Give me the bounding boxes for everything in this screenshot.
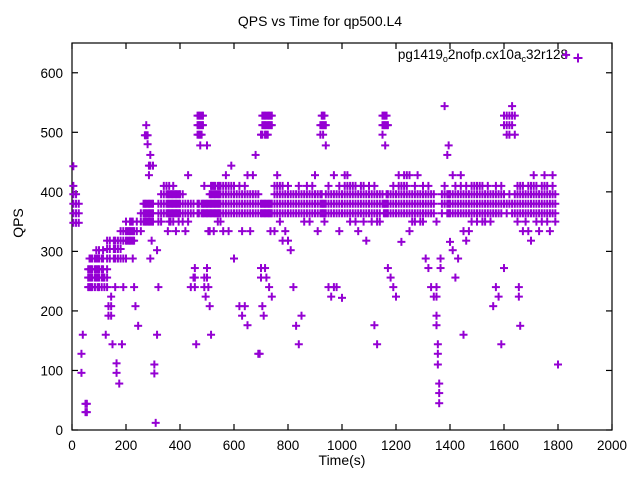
y-tick-label: 300 [40,244,63,259]
x-tick-label: 400 [169,438,192,453]
y-tick-label: 200 [40,304,63,319]
legend-marker [574,54,583,63]
y-tick-label: 0 [55,423,63,438]
x-tick-label: 600 [223,438,246,453]
series-pg1419_o2nofp.cx10a_c32r128 [69,51,570,427]
x-tick-label: 0 [68,438,76,453]
y-tick-label: 400 [40,185,63,200]
axes-layer: 0100200300400500600020040060080010001200… [40,43,627,453]
x-tick-label: 800 [277,438,300,453]
x-tick-label: 1000 [327,438,357,453]
x-tick-label: 1800 [543,438,573,453]
plot-border [72,43,612,430]
y-tick-label: 500 [40,125,63,140]
y-tick-label: 600 [40,66,63,81]
x-tick-label: 1400 [435,438,465,453]
x-tick-label: 1200 [381,438,411,453]
y-tick-label: 100 [40,363,63,378]
x-tick-label: 2000 [597,438,627,453]
plot-svg: 0100200300400500600020040060080010001200… [0,0,640,480]
x-tick-label: 1600 [489,438,519,453]
chart-container: QPS vs Time for qp500.L4 QPS Time(s) pg1… [0,0,640,480]
x-tick-label: 200 [115,438,138,453]
data-points-layer [69,51,570,427]
